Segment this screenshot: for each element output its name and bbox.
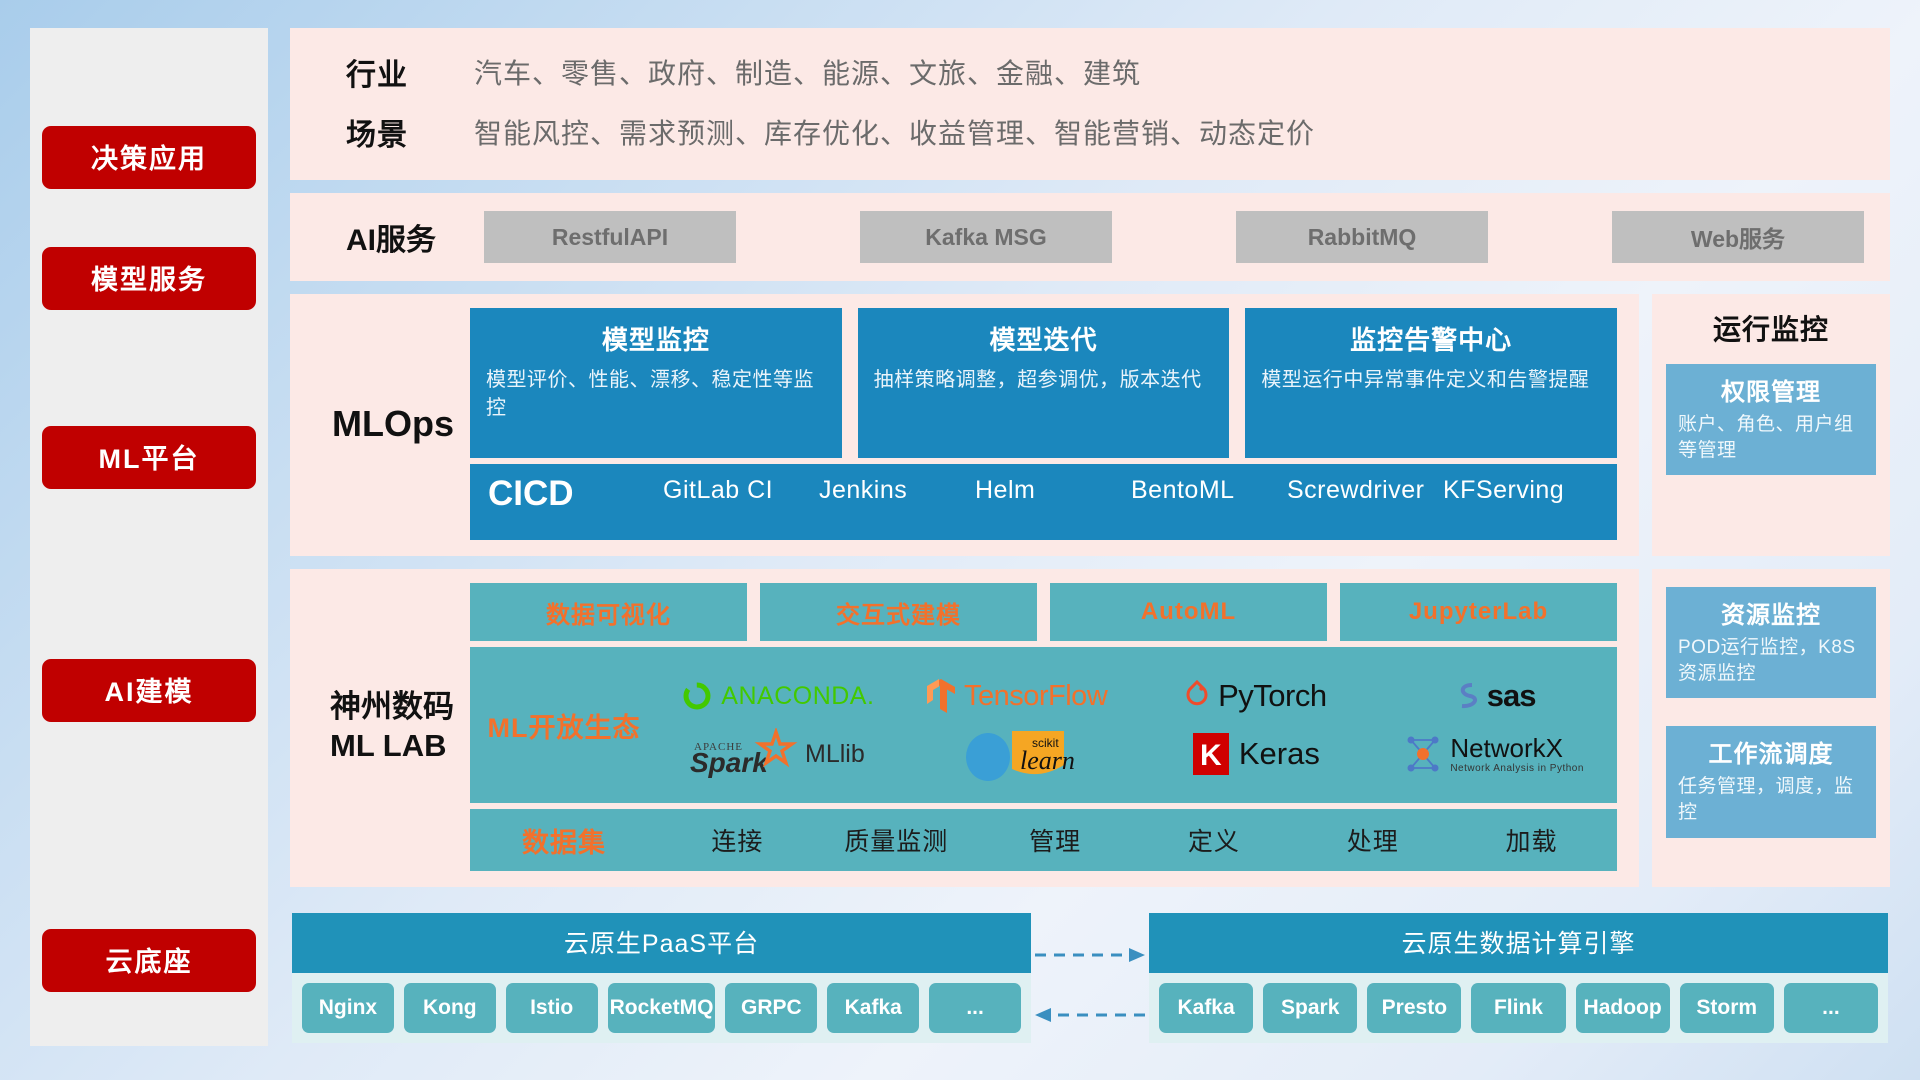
ai-service-chip-kafka-msg[interactable]: Kafka MSG (860, 211, 1112, 263)
cicd-item-kfserving[interactable]: KFServing (1443, 476, 1599, 504)
rail-chip-ml-platform[interactable]: ML平台 (42, 426, 256, 489)
ai-service-label: AI服务 (316, 215, 474, 259)
paas-chip-kong[interactable]: Kong (404, 983, 496, 1033)
svg-text:Spark: Spark (690, 747, 769, 778)
spark-mllib-logo-text: MLlib (805, 740, 865, 769)
industry-values: 汽车、零售、政府、制造、能源、文旅、金融、建筑 (474, 52, 1141, 92)
keras-logo: K Keras (1136, 731, 1375, 777)
dataset-bar: 数据集 连接 质量监测 管理 定义 处理 加载 (470, 809, 1617, 871)
ml-lab-band: 神州数码 ML LAB 数据可视化 交互式建模 AutoML JupyterLa… (290, 569, 1639, 887)
ai-service-chip-restfulapi[interactable]: RestfulAPI (484, 211, 736, 263)
architecture-diagram: 决策应用 模型服务 ML平台 AI建模 云底座 行业 汽车、零售、政府、制造、能… (0, 0, 1920, 1080)
mlops-card-title: 模型监控 (486, 320, 826, 357)
mlops-card-title: 模型迭代 (874, 320, 1214, 357)
layers-stack: 行业 汽车、零售、政府、制造、能源、文旅、金融、建筑 场景 智能风控、需求预测、… (290, 28, 1890, 1046)
networkx-logo: NetworkX Network Analysis in Python (1374, 732, 1613, 776)
engine-chip-presto[interactable]: Presto (1367, 983, 1461, 1033)
scikit-learn-logo: scikit learn (897, 725, 1136, 783)
industry-label: 行业 (316, 50, 474, 94)
rail-chip-ai-modeling[interactable]: AI建模 (42, 659, 256, 722)
mlops-card-model-iteration[interactable]: 模型迭代 抽样策略调整，超参调优，版本迭代 (858, 308, 1230, 458)
paas-chip-rocketmq[interactable]: RocketMQ (608, 983, 716, 1033)
mlops-card-model-monitoring[interactable]: 模型监控 模型评价、性能、漂移、稳定性等监控 (470, 308, 842, 458)
paas-chip-grpc[interactable]: GRPC (725, 983, 817, 1033)
cloud-base-section: 云原生PaaS平台 Nginx Kong Istio RocketMQ GRPC… (290, 913, 1890, 1043)
cicd-bar: CICD GitLab CI Jenkins Helm BentoML Scre… (470, 464, 1617, 540)
scenario-row: 场景 智能风控、需求预测、库存优化、收益管理、智能营销、动态定价 (316, 110, 1864, 154)
ai-service-chip-rabbitmq[interactable]: RabbitMQ (1236, 211, 1488, 263)
ai-service-chip-web-service[interactable]: Web服务 (1612, 211, 1864, 263)
run-monitor-card-title: 权限管理 (1678, 372, 1864, 407)
svg-text:learn: learn (1020, 746, 1074, 775)
data-engine-title: 云原生数据计算引擎 (1149, 913, 1888, 973)
decision-app-band: 行业 汽车、零售、政府、制造、能源、文旅、金融、建筑 场景 智能风控、需求预测、… (290, 28, 1890, 180)
paas-chip-kafka[interactable]: Kafka (827, 983, 919, 1033)
ml-ecosystem-logo-grid: ANACONDA. TensorFlow (658, 667, 1613, 783)
arrow-head-right-icon (1129, 948, 1145, 962)
anaconda-logo: ANACONDA. (658, 679, 897, 713)
rail-chip-cloud-base[interactable]: 云底座 (42, 929, 256, 992)
cicd-title: CICD (488, 476, 663, 511)
sas-logo: sas (1374, 678, 1613, 714)
dataset-item-define[interactable]: 定义 (1134, 822, 1293, 858)
pytorch-logo: PyTorch (1136, 678, 1375, 714)
rail-chip-decision-app[interactable]: 决策应用 (42, 126, 256, 189)
sas-logo-text: sas (1487, 678, 1536, 714)
paas-platform-title: 云原生PaaS平台 (292, 913, 1031, 973)
run-monitor-card-permission[interactable]: 权限管理 账户、角色、用户组等管理 (1666, 364, 1876, 475)
ml-lab-label-line1: 神州数码 (330, 689, 454, 724)
rail-chip-model-service[interactable]: 模型服务 (42, 247, 256, 310)
run-monitor-panel: 运行监控 权限管理 账户、角色、用户组等管理 (1652, 294, 1890, 556)
cicd-item-jenkins[interactable]: Jenkins (819, 476, 975, 504)
engine-chip-list: Kafka Spark Presto Flink Hadoop Storm ..… (1149, 973, 1888, 1043)
data-engine-box: 云原生数据计算引擎 Kafka Spark Presto Flink Hadoo… (1149, 913, 1888, 1043)
ml-platform-section: MLOps 模型监控 模型评价、性能、漂移、稳定性等监控 模型迭代 抽样策略调整… (290, 294, 1890, 556)
engine-chip-spark[interactable]: Spark (1263, 983, 1357, 1033)
mlops-card-title: 监控告警中心 (1261, 320, 1601, 357)
engine-chip-storm[interactable]: Storm (1680, 983, 1774, 1033)
dataset-item-manage[interactable]: 管理 (976, 822, 1135, 858)
ai-service-chip-list: RestfulAPI Kafka MSG RabbitMQ Web服务 (474, 211, 1864, 263)
run-monitor-card-desc: 账户、角色、用户组等管理 (1678, 412, 1864, 463)
industry-row: 行业 汽车、零售、政府、制造、能源、文旅、金融、建筑 (316, 50, 1864, 94)
arrow-head-left-icon (1035, 1008, 1051, 1022)
mlops-card-desc: 抽样策略调整，超参调优，版本迭代 (874, 367, 1214, 395)
tensorflow-logo: TensorFlow (897, 677, 1136, 715)
pytorch-logo-text: PyTorch (1218, 678, 1326, 714)
layer-rail: 决策应用 模型服务 ML平台 AI建模 云底座 (30, 28, 268, 1046)
anaconda-logo-text: ANACONDA. (721, 682, 874, 711)
cloud-link-arrows (1031, 923, 1149, 1043)
ml-lab-tab-interactive-modeling[interactable]: 交互式建模 (760, 583, 1037, 641)
run-monitor-title: 运行监控 (1666, 308, 1876, 348)
cicd-item-helm[interactable]: Helm (975, 476, 1131, 504)
networkx-logo-tagline: Network Analysis in Python (1450, 764, 1584, 774)
run-monitor-panel-lower: 资源监控 POD运行监控，K8S资源监控 工作流调度 任务管理，调度，监控 (1652, 569, 1890, 887)
keras-logo-text: Keras (1239, 736, 1320, 772)
dataset-item-quality-monitor[interactable]: 质量监测 (817, 822, 976, 858)
ml-lab-tab-data-visualization[interactable]: 数据可视化 (470, 583, 747, 641)
dataset-item-process[interactable]: 处理 (1293, 822, 1452, 858)
engine-chip-kafka[interactable]: Kafka (1159, 983, 1253, 1033)
ml-ecosystem-label: ML开放生态 (470, 706, 658, 745)
ai-service-band: AI服务 RestfulAPI Kafka MSG RabbitMQ Web服务 (290, 193, 1890, 281)
mlops-body: 模型监控 模型评价、性能、漂移、稳定性等监控 模型迭代 抽样策略调整，超参调优，… (470, 308, 1617, 540)
ai-modeling-section: 神州数码 ML LAB 数据可视化 交互式建模 AutoML JupyterLa… (290, 569, 1890, 887)
ml-ecosystem-panel: ML开放生态 ANACONDA. (470, 647, 1617, 803)
mlops-card-desc: 模型运行中异常事件定义和告警提醒 (1261, 367, 1601, 395)
rail-spacer (42, 722, 256, 764)
cicd-item-list: GitLab CI Jenkins Helm BentoML Screwdriv… (663, 476, 1599, 504)
ml-lab-tab-list: 数据可视化 交互式建模 AutoML JupyterLab (470, 583, 1617, 641)
run-monitor-card-desc: POD运行监控，K8S资源监控 (1678, 635, 1864, 686)
mlops-label: MLOps (312, 308, 470, 540)
cicd-item-bentoml[interactable]: BentoML (1131, 476, 1287, 504)
paas-chip-istio[interactable]: Istio (506, 983, 598, 1033)
engine-chip-more[interactable]: ... (1784, 983, 1878, 1033)
ml-lab-label-line2: ML LAB (330, 728, 447, 763)
ml-lab-body: 数据可视化 交互式建模 AutoML JupyterLab ML开放生态 (470, 583, 1617, 871)
dataset-item-list: 连接 质量监测 管理 定义 处理 加载 (658, 822, 1611, 858)
engine-chip-flink[interactable]: Flink (1471, 983, 1565, 1033)
paas-platform-box: 云原生PaaS平台 Nginx Kong Istio RocketMQ GRPC… (292, 913, 1031, 1043)
ml-lab-tab-jupyterlab[interactable]: JupyterLab (1340, 583, 1617, 641)
mlops-card-alert-center[interactable]: 监控告警中心 模型运行中异常事件定义和告警提醒 (1245, 308, 1617, 458)
run-monitor-card-title: 工作流调度 (1678, 734, 1864, 769)
cicd-item-gitlab-ci[interactable]: GitLab CI (663, 476, 819, 504)
dataset-label: 数据集 (470, 821, 658, 860)
run-monitor-card-resource[interactable]: 资源监控 POD运行监控，K8S资源监控 (1666, 587, 1876, 698)
ml-lab-tab-automl[interactable]: AutoML (1050, 583, 1327, 641)
ml-lab-label: 神州数码 ML LAB (312, 583, 470, 871)
mlops-card-desc: 模型评价、性能、漂移、稳定性等监控 (486, 367, 826, 422)
scenario-values: 智能风控、需求预测、库存优化、收益管理、智能营销、动态定价 (474, 112, 1315, 152)
dataset-item-connect[interactable]: 连接 (658, 822, 817, 858)
scenario-label: 场景 (316, 110, 474, 154)
mlops-band: MLOps 模型监控 模型评价、性能、漂移、稳定性等监控 模型迭代 抽样策略调整… (290, 294, 1639, 556)
paas-chip-list: Nginx Kong Istio RocketMQ GRPC Kafka ... (292, 973, 1031, 1043)
networkx-logo-text: NetworkX (1450, 735, 1584, 761)
paas-chip-nginx[interactable]: Nginx (302, 983, 394, 1033)
run-monitor-card-title: 资源监控 (1678, 595, 1864, 630)
run-monitor-card-desc: 任务管理，调度，监控 (1678, 774, 1864, 825)
svg-text:K: K (1200, 739, 1222, 772)
cicd-item-screwdriver[interactable]: Screwdriver (1287, 476, 1443, 504)
spark-mllib-logo: APACHE Spark MLlib (658, 728, 897, 780)
mlops-card-list: 模型监控 模型评价、性能、漂移、稳定性等监控 模型迭代 抽样策略调整，超参调优，… (470, 308, 1617, 458)
engine-chip-hadoop[interactable]: Hadoop (1576, 983, 1670, 1033)
tensorflow-logo-text: TensorFlow (964, 680, 1107, 713)
dataset-item-load[interactable]: 加载 (1452, 822, 1611, 858)
run-monitor-lower-cards: 资源监控 POD运行监控，K8S资源监控 工作流调度 任务管理，调度，监控 (1666, 583, 1876, 871)
run-monitor-card-workflow[interactable]: 工作流调度 任务管理，调度，监控 (1666, 726, 1876, 837)
paas-chip-more[interactable]: ... (929, 983, 1021, 1033)
